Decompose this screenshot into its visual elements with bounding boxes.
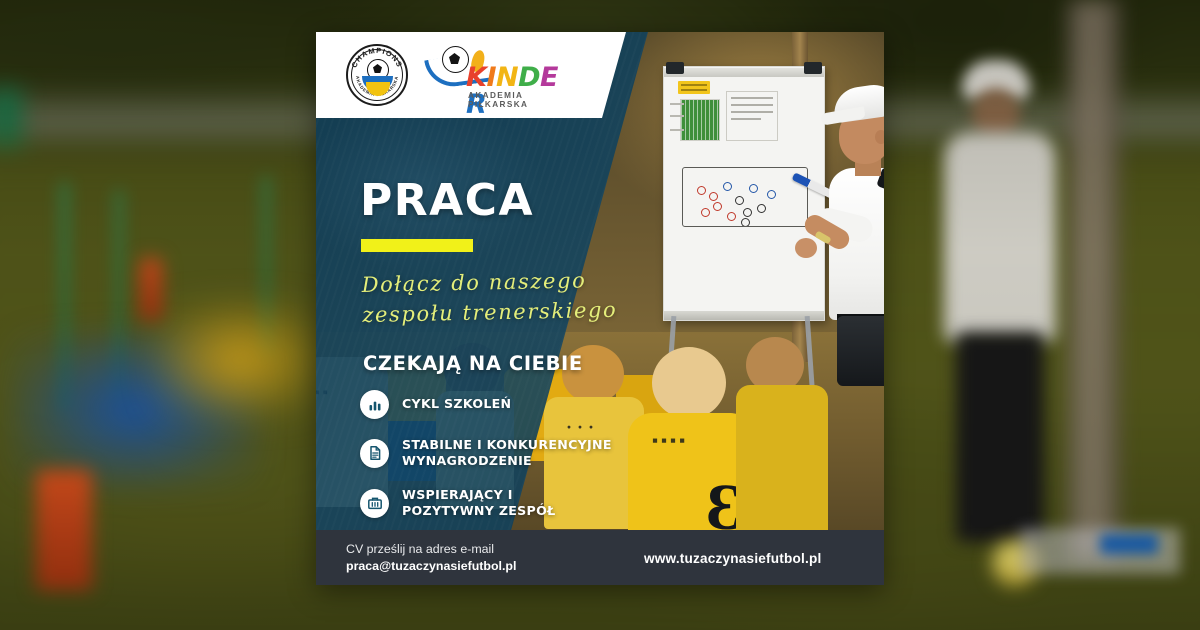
kinder-subtitle: AKADEMIA PIŁKARSKA — [468, 91, 576, 109]
tactics-drawing — [682, 167, 808, 227]
list-item: CYKL SZKOLEŃ — [360, 390, 660, 419]
list-item-label: WSPIERAJĄCY I POZYTYWNY ZESPÓŁ — [402, 487, 555, 519]
tagline-line-2: zespołu trenerskiego — [362, 295, 653, 331]
document-icon — [360, 439, 389, 468]
kinder-logo: KINDER AKADEMIA PIŁKARSKA — [426, 44, 576, 106]
contact-block: CV prześlij na adres e-mail praca@tuzacz… — [346, 541, 516, 575]
section-heading: CZEKAJĄ NA CIEBIE — [363, 352, 583, 375]
board-notes — [726, 91, 778, 141]
poster-footer: CV prześlij na adres e-mail praca@tuzacz… — [316, 530, 884, 585]
list-item-label: CYKL SZKOLEŃ — [402, 396, 511, 412]
briefcase-icon — [360, 489, 389, 518]
contact-email[interactable]: praca@tuzaczynasiefutbol.pl — [346, 558, 516, 575]
coach-photo-figure — [813, 70, 884, 380]
champions-crest-icon: CHAMPIONS AKADEMIA PIŁKARSKA — [346, 44, 408, 106]
website-link[interactable]: www.tuzaczynasiefutbol.pl — [644, 551, 821, 566]
pitch-diagram — [680, 99, 720, 141]
list-item: STABILNE I KONKURENCYJNE WYNAGRODZENIE — [360, 437, 660, 469]
contact-label: CV prześlij na adres e-mail — [346, 541, 516, 558]
list-item-label: STABILNE I KONKURENCYJNE WYNAGRODZENIE — [402, 437, 612, 469]
sticky-note — [678, 81, 710, 94]
kinder-football-icon — [442, 46, 469, 73]
list-item: WSPIERAJĄCY I POZYTYWNY ZESPÓŁ — [360, 487, 660, 519]
logo-row: CHAMPIONS AKADEMIA PIŁKARSKA KINDER AKAD… — [316, 32, 616, 118]
tagline: Dołącz do naszego zespołu trenerskiego — [361, 265, 652, 331]
bar-chart-icon — [360, 390, 389, 419]
flipchart-whiteboard — [663, 66, 825, 321]
job-offer-poster: ··· ▪▪▪▪ Ɛ ▪▪▪ CHAMPIONS — [316, 32, 884, 585]
page-title: PRACA — [360, 179, 534, 223]
title-accent-bar — [361, 239, 473, 252]
benefits-list: CYKL SZKOLEŃ STABILNE I KONKURENCYJNE WY… — [360, 390, 660, 537]
